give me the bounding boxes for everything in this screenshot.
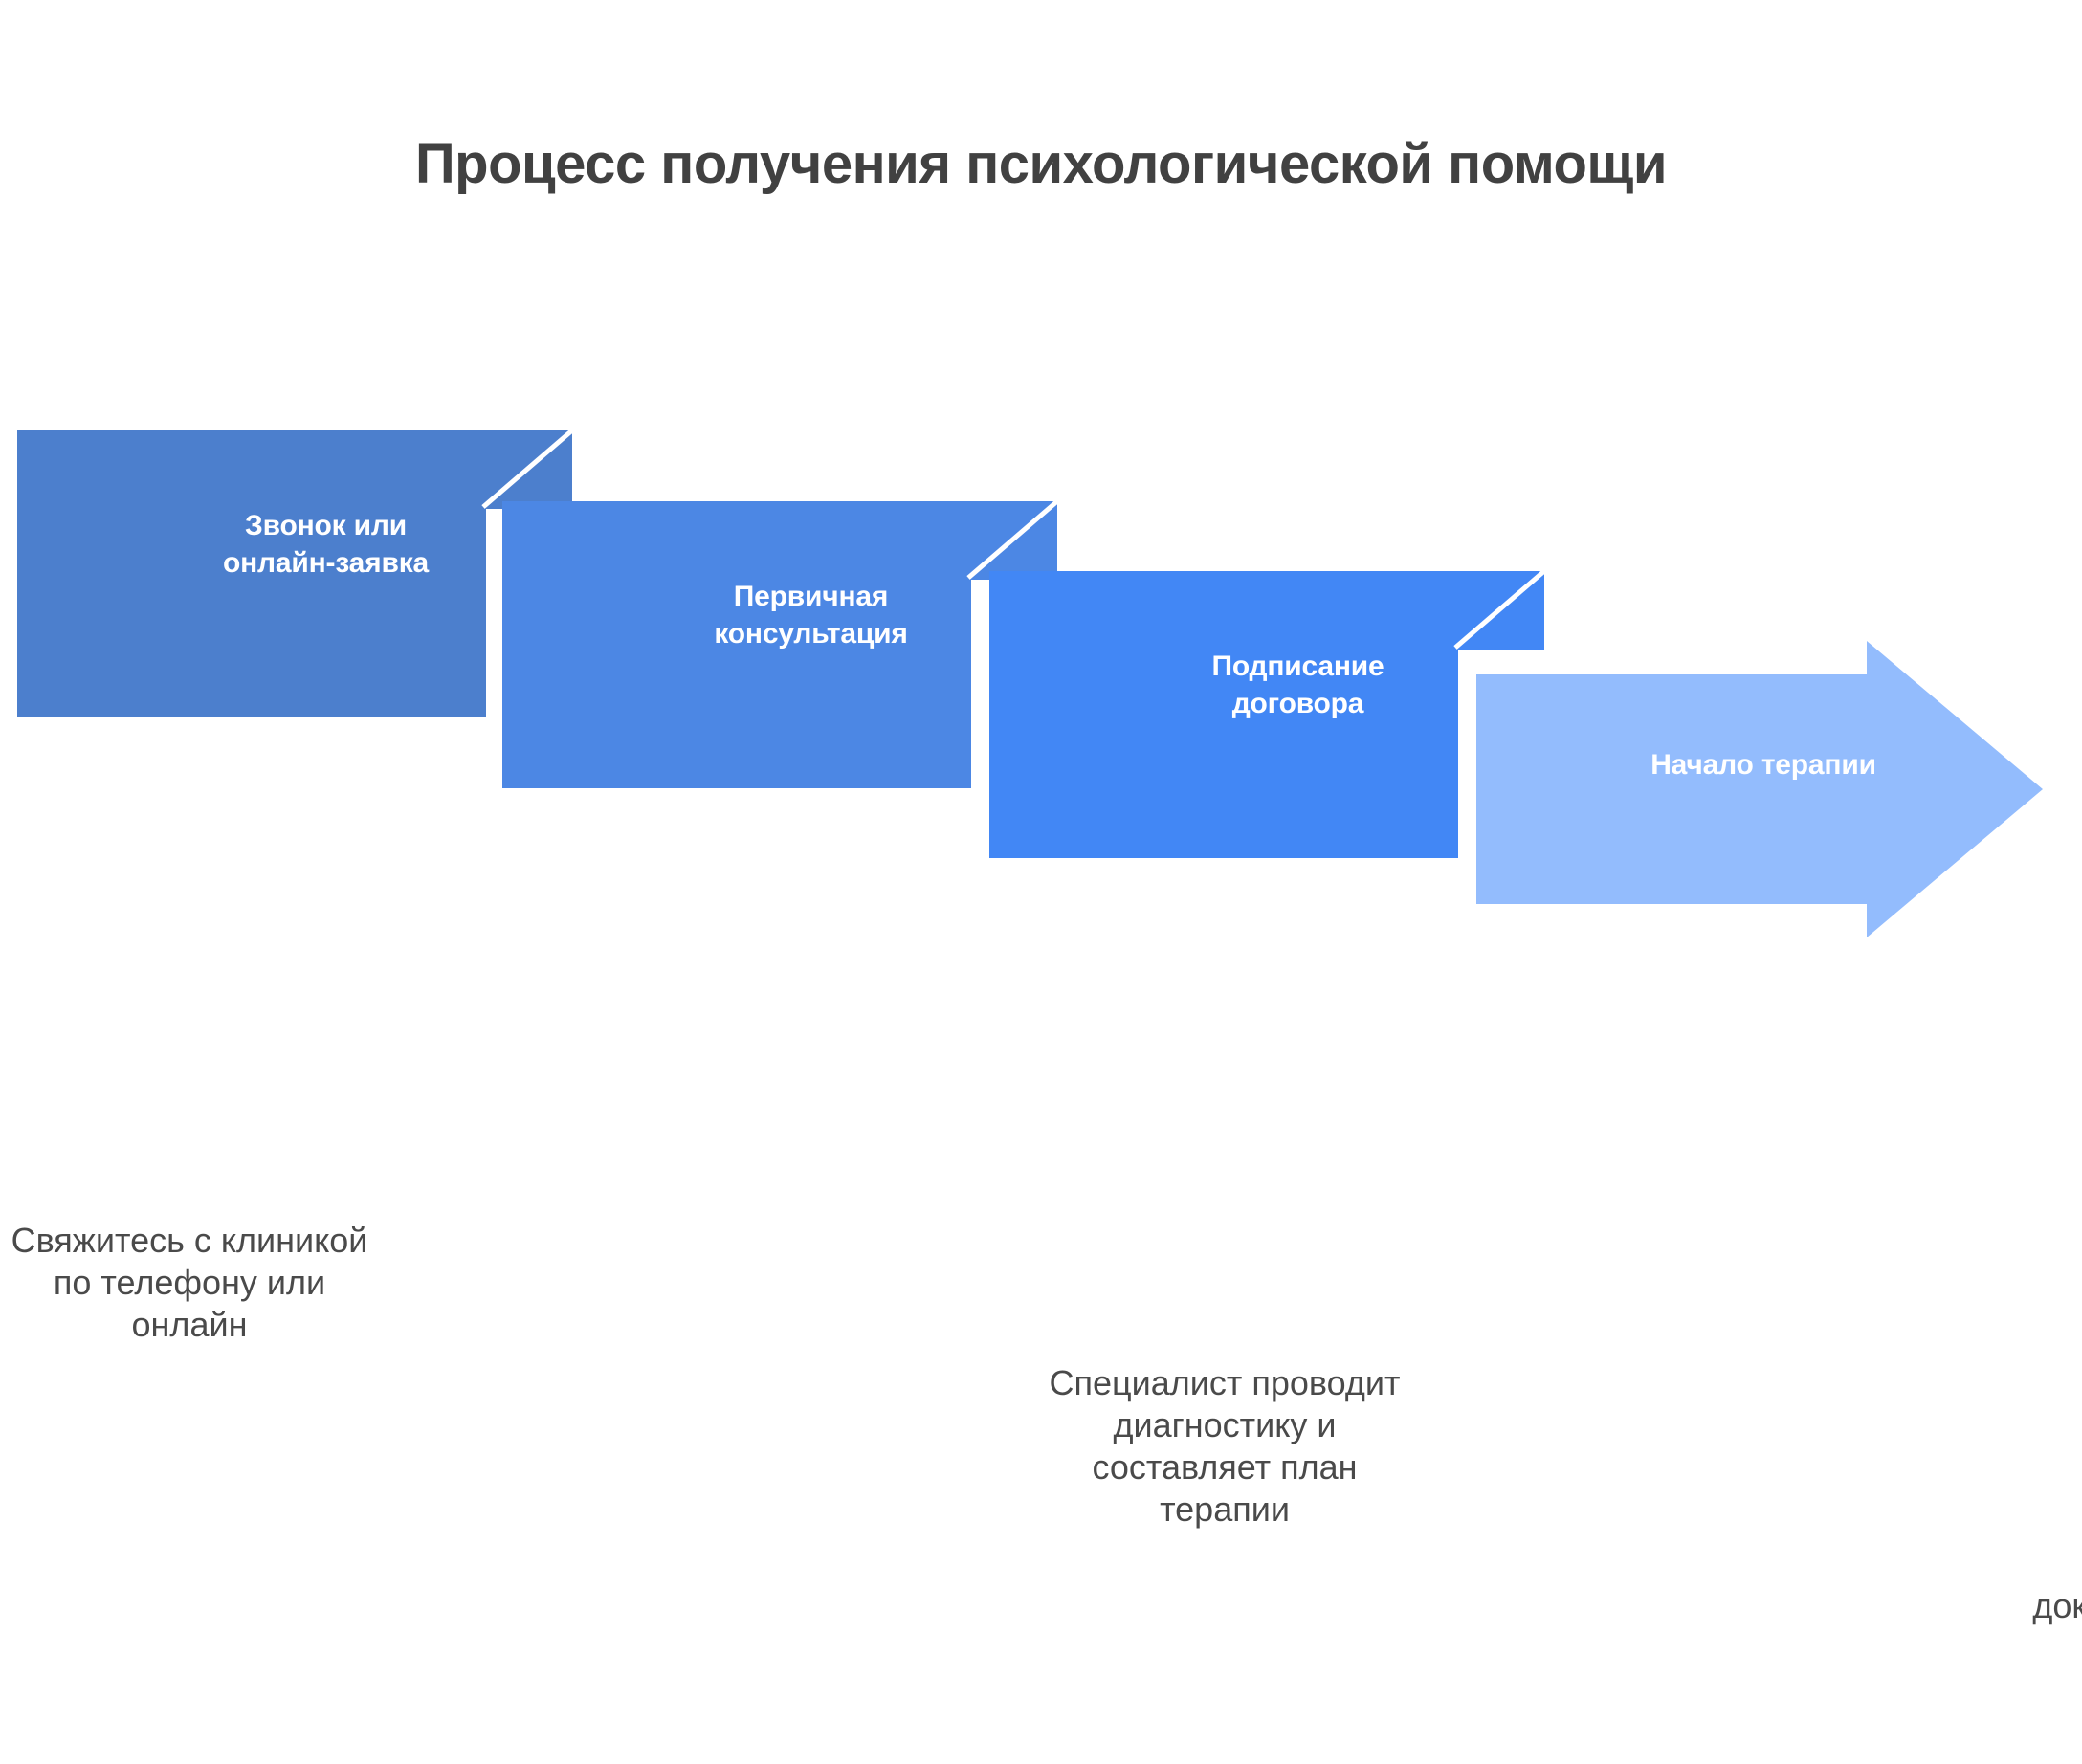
step-1-caption: Свяжитесь с клиникой по телефону или онл… bbox=[0, 1220, 381, 1346]
step-2-caption: Специалист проводит диагностику и состав… bbox=[1033, 1362, 1416, 1531]
slide-canvas: Процесс получения психологической помощи… bbox=[0, 0, 2082, 1202]
process-diagram: Звонок или онлайн-заявка Свяжитесь с кли… bbox=[0, 0, 2082, 1202]
step-4-arrow-shape bbox=[1476, 641, 2050, 937]
step-3-caption: Оформите необходимые документы для терап… bbox=[2032, 1501, 2082, 1627]
